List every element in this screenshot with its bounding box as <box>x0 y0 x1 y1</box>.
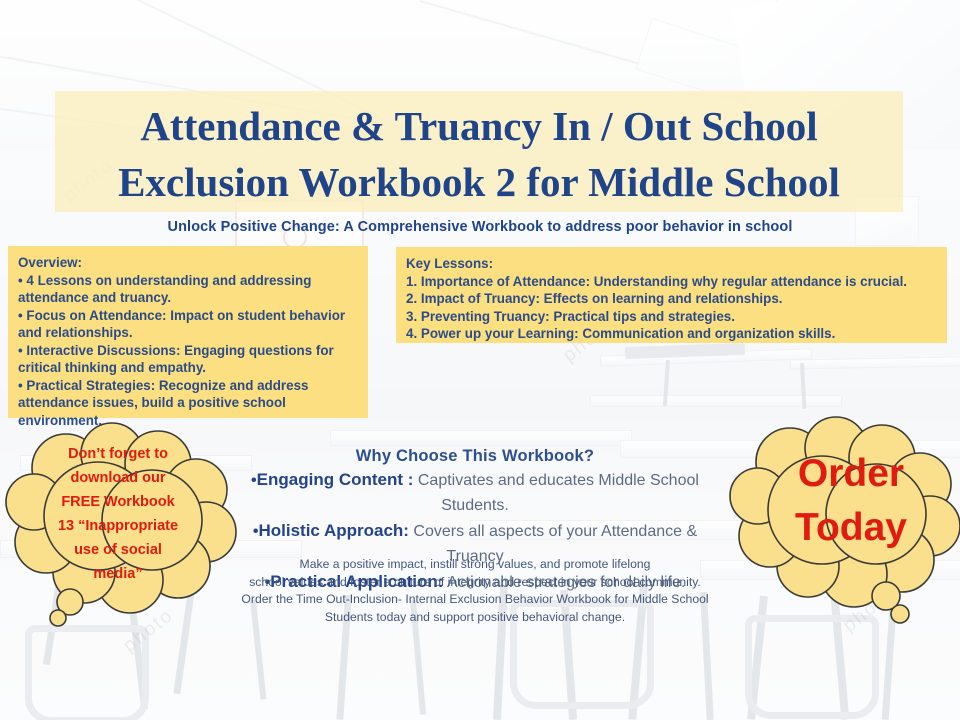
why-choose-point: •Engaging Content : Captivates and educa… <box>235 467 715 518</box>
overview-item: • 4 Lessons on understanding and address… <box>18 272 358 307</box>
closing-line: Make a positive impact, instill strong v… <box>235 556 715 574</box>
why-choose-point-label: Engaging Content : <box>257 470 414 489</box>
closing-line: Students today and support positive beha… <box>235 609 715 627</box>
bubble-line: Today <box>756 501 946 555</box>
overview-item: • Focus on Attendance: Impact on student… <box>18 307 358 342</box>
key-lesson-item: 4. Power up your Learning: Communication… <box>406 325 937 343</box>
order-today-bubble-text: Order Today <box>756 447 946 555</box>
overview-box: Overview: • 4 Lessons on understanding a… <box>8 246 368 418</box>
overview-item: • Interactive Discussions: Engaging ques… <box>18 342 358 377</box>
bubble-line: download our <box>28 466 208 490</box>
bubble-line: media” <box>28 562 208 586</box>
closing-paragraph: Make a positive impact, instill strong v… <box>235 556 715 626</box>
why-choose-point-text: Captivates and educates Middle School St… <box>413 472 699 514</box>
key-lessons-heading: Key Lessons: <box>406 255 937 273</box>
subtitle: Unlock Positive Change: A Comprehensive … <box>0 219 960 235</box>
bubble-line: Don’t forget to <box>28 442 208 466</box>
bubble-line: 13 “Inappropriate <box>28 514 208 538</box>
why-choose-heading: Why Choose This Workbook? <box>235 447 715 466</box>
overview-item: • Practical Strategies: Recognize and ad… <box>18 377 358 430</box>
key-lesson-item: 3. Preventing Truancy: Practical tips an… <box>406 308 937 326</box>
bubble-line: Order <box>756 447 946 501</box>
bubble-line: use of social <box>28 538 208 562</box>
closing-line: school values and foster a culture of in… <box>235 574 715 592</box>
bubble-line: FREE Workbook <box>28 490 208 514</box>
free-workbook-bubble-text: Don’t forget to download our FREE Workbo… <box>28 442 208 586</box>
key-lesson-item: 1. Importance of Attendance: Understandi… <box>406 273 937 291</box>
closing-line: Order the Time Out-Inclusion- Internal E… <box>235 591 715 609</box>
why-choose-point-label: Holistic Approach: <box>258 521 409 540</box>
title-line-2: Exclusion Workbook 2 for Middle School <box>55 154 903 210</box>
key-lessons-box: Key Lessons: 1. Importance of Attendance… <box>396 247 947 343</box>
title-line-1: Attendance & Truancy In / Out School <box>55 98 903 154</box>
page-title: Attendance & Truancy In / Out School Exc… <box>55 98 903 210</box>
key-lesson-item: 2. Impact of Truancy: Effects on learnin… <box>406 290 937 308</box>
overview-heading: Overview: <box>18 254 358 272</box>
poster-canvas: photo photo photo photo Attendance & Tru… <box>0 0 960 720</box>
